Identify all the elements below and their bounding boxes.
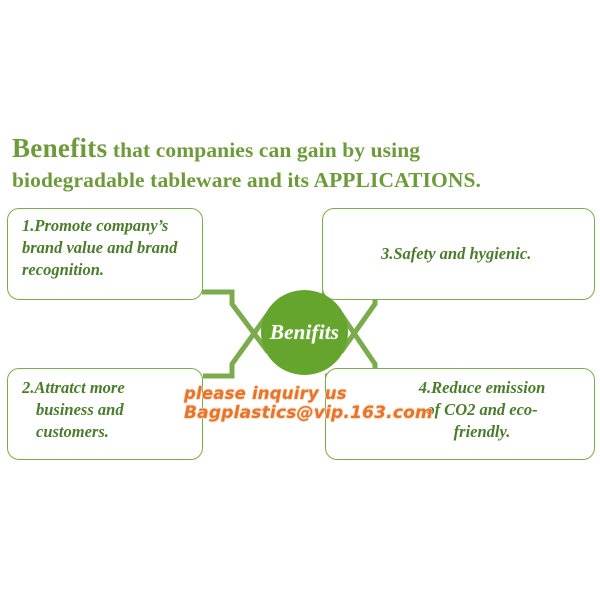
watermark-line-2: Bagplastics@vip.163.com	[184, 404, 433, 424]
watermark-line-1: please inquiry us	[184, 385, 433, 404]
center-circle-label: Benifits	[270, 320, 339, 345]
benefit-box-1[interactable]: 1.Promote company’s brand value and bran…	[7, 208, 203, 300]
benefit-box-2-text: 2.Attratct more business and customers.	[22, 377, 194, 443]
benefit-box-2[interactable]: 2.Attratct more business and customers.	[7, 368, 203, 460]
benefit-box-3[interactable]: 3.Safety and hygienic.	[322, 208, 595, 300]
benefit-box-1-text: 1.Promote company’s brand value and bran…	[22, 215, 194, 281]
slide-canvas: Benefits that companies can gain by usin…	[0, 0, 600, 600]
watermark-contact: please inquiry us Bagplastics@vip.163.co…	[184, 385, 433, 424]
benefit-box-3-text: 3.Safety and hygienic.	[381, 243, 584, 265]
connector-box-2	[203, 314, 268, 376]
center-circle-node[interactable]: Benifits	[261, 290, 348, 375]
connector-box-1	[202, 292, 268, 352]
